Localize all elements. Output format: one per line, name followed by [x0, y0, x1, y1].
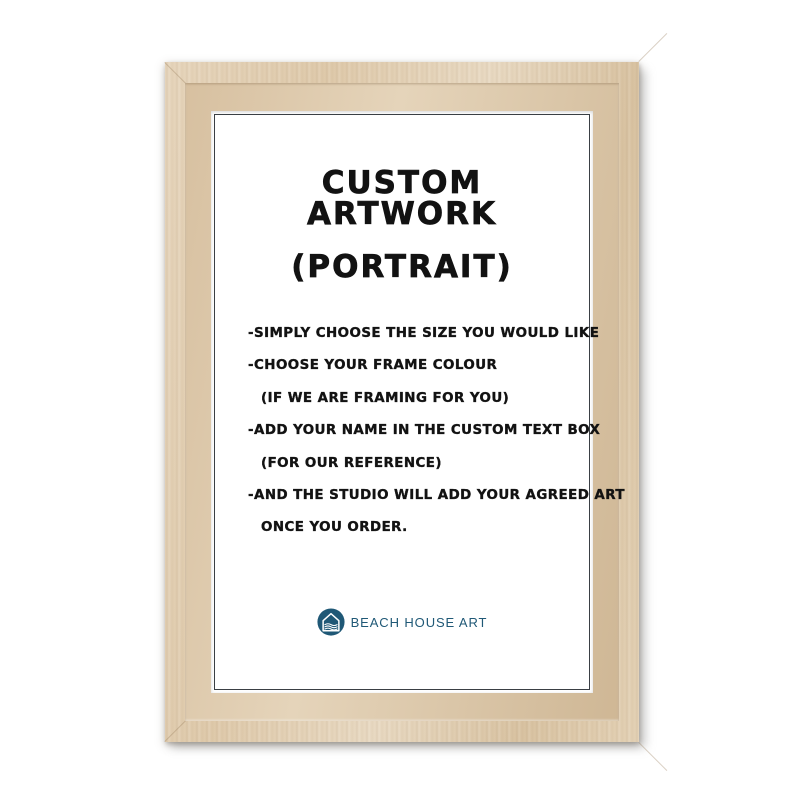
frame-inner-bevel: CUSTOM ARTWORK (PORTRAIT) -SIMPLY CHOOSE…: [185, 83, 619, 721]
instruction-item: -SIMPLY CHOOSE THE SIZE YOU WOULD LIKE: [248, 327, 570, 340]
art-mat: CUSTOM ARTWORK (PORTRAIT) -SIMPLY CHOOSE…: [211, 111, 593, 693]
instruction-list: -SIMPLY CHOOSE THE SIZE YOU WOULD LIKE -…: [248, 327, 570, 554]
brand-name: BEACH HOUSE ART: [351, 615, 488, 630]
instruction-item: -AND THE STUDIO WILL ADD YOUR AGREED ART: [248, 489, 570, 502]
poster-title: CUSTOM ARTWORK: [234, 168, 570, 230]
instruction-item: -CHOOSE YOUR FRAME COLOUR: [248, 359, 570, 372]
picture-frame[interactable]: CUSTOM ARTWORK (PORTRAIT) -SIMPLY CHOOSE…: [165, 62, 639, 742]
brand-lockup: BEACH HOUSE ART: [234, 608, 570, 636]
house-wave-circle-icon: [317, 608, 345, 636]
instruction-item: (FOR OUR REFERENCE): [248, 457, 570, 470]
product-stage: CUSTOM ARTWORK (PORTRAIT) -SIMPLY CHOOSE…: [0, 0, 800, 800]
poster-spacer: [234, 554, 570, 608]
poster-content: CUSTOM ARTWORK (PORTRAIT) -SIMPLY CHOOSE…: [220, 120, 584, 684]
frame-miter-top-right: [638, 33, 667, 62]
instruction-item: (IF WE ARE FRAMING FOR YOU): [248, 392, 570, 405]
instruction-item: ONCE YOU ORDER.: [248, 521, 570, 534]
instruction-item: -ADD YOUR NAME IN THE CUSTOM TEXT BOX: [248, 424, 570, 437]
poster-subtitle: (PORTRAIT): [234, 252, 570, 283]
